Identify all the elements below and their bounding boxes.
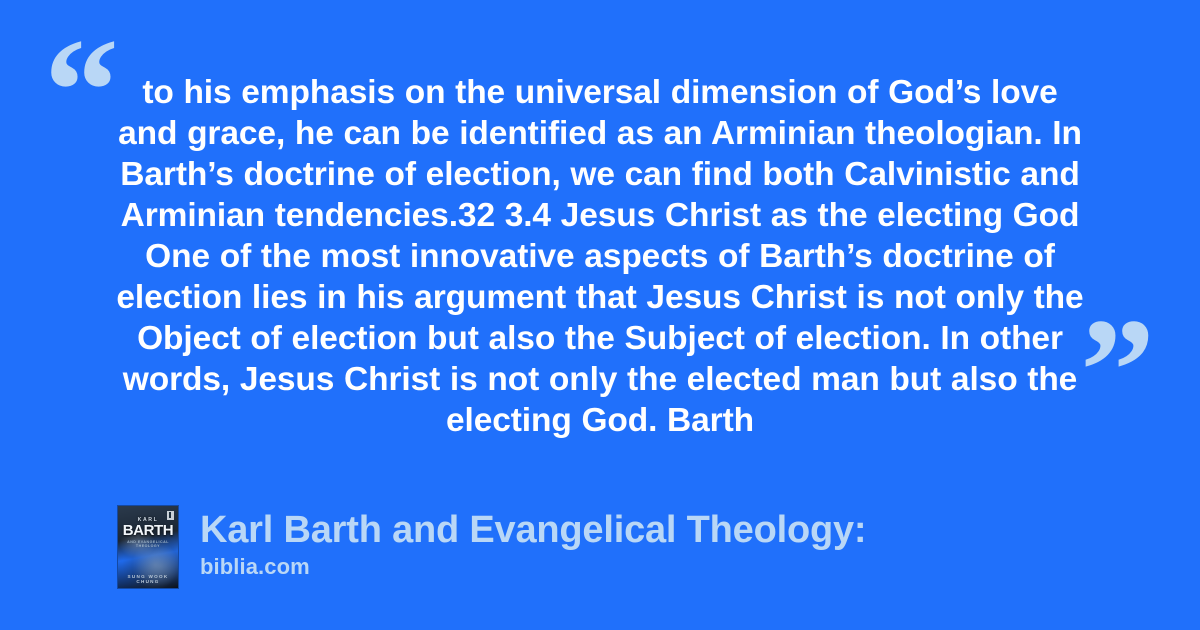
footer: KARL BARTH AND EVANGELICAL THEOLOGY SUNG… — [118, 506, 866, 588]
book-cover-author: SUNG WOOK CHUNG — [118, 574, 178, 584]
book-cover-thumbnail: KARL BARTH AND EVANGELICAL THEOLOGY SUNG… — [118, 506, 178, 588]
closing-quote-icon: ” — [1080, 296, 1155, 446]
footer-text-group: Karl Barth and Evangelical Theology: bib… — [200, 506, 866, 580]
book-title: Karl Barth and Evangelical Theology: — [200, 508, 866, 552]
source-domain: biblia.com — [200, 554, 866, 580]
book-cover-subtitle: AND EVANGELICAL THEOLOGY — [118, 540, 178, 548]
book-cover-title: BARTH — [118, 522, 178, 539]
quote-card: “ to his emphasis on the universal dimen… — [0, 0, 1200, 630]
quote-text: to his emphasis on the universal dimensi… — [112, 72, 1088, 441]
opening-quote-icon: “ — [44, 16, 119, 166]
quote-block: to his emphasis on the universal dimensi… — [112, 72, 1088, 441]
